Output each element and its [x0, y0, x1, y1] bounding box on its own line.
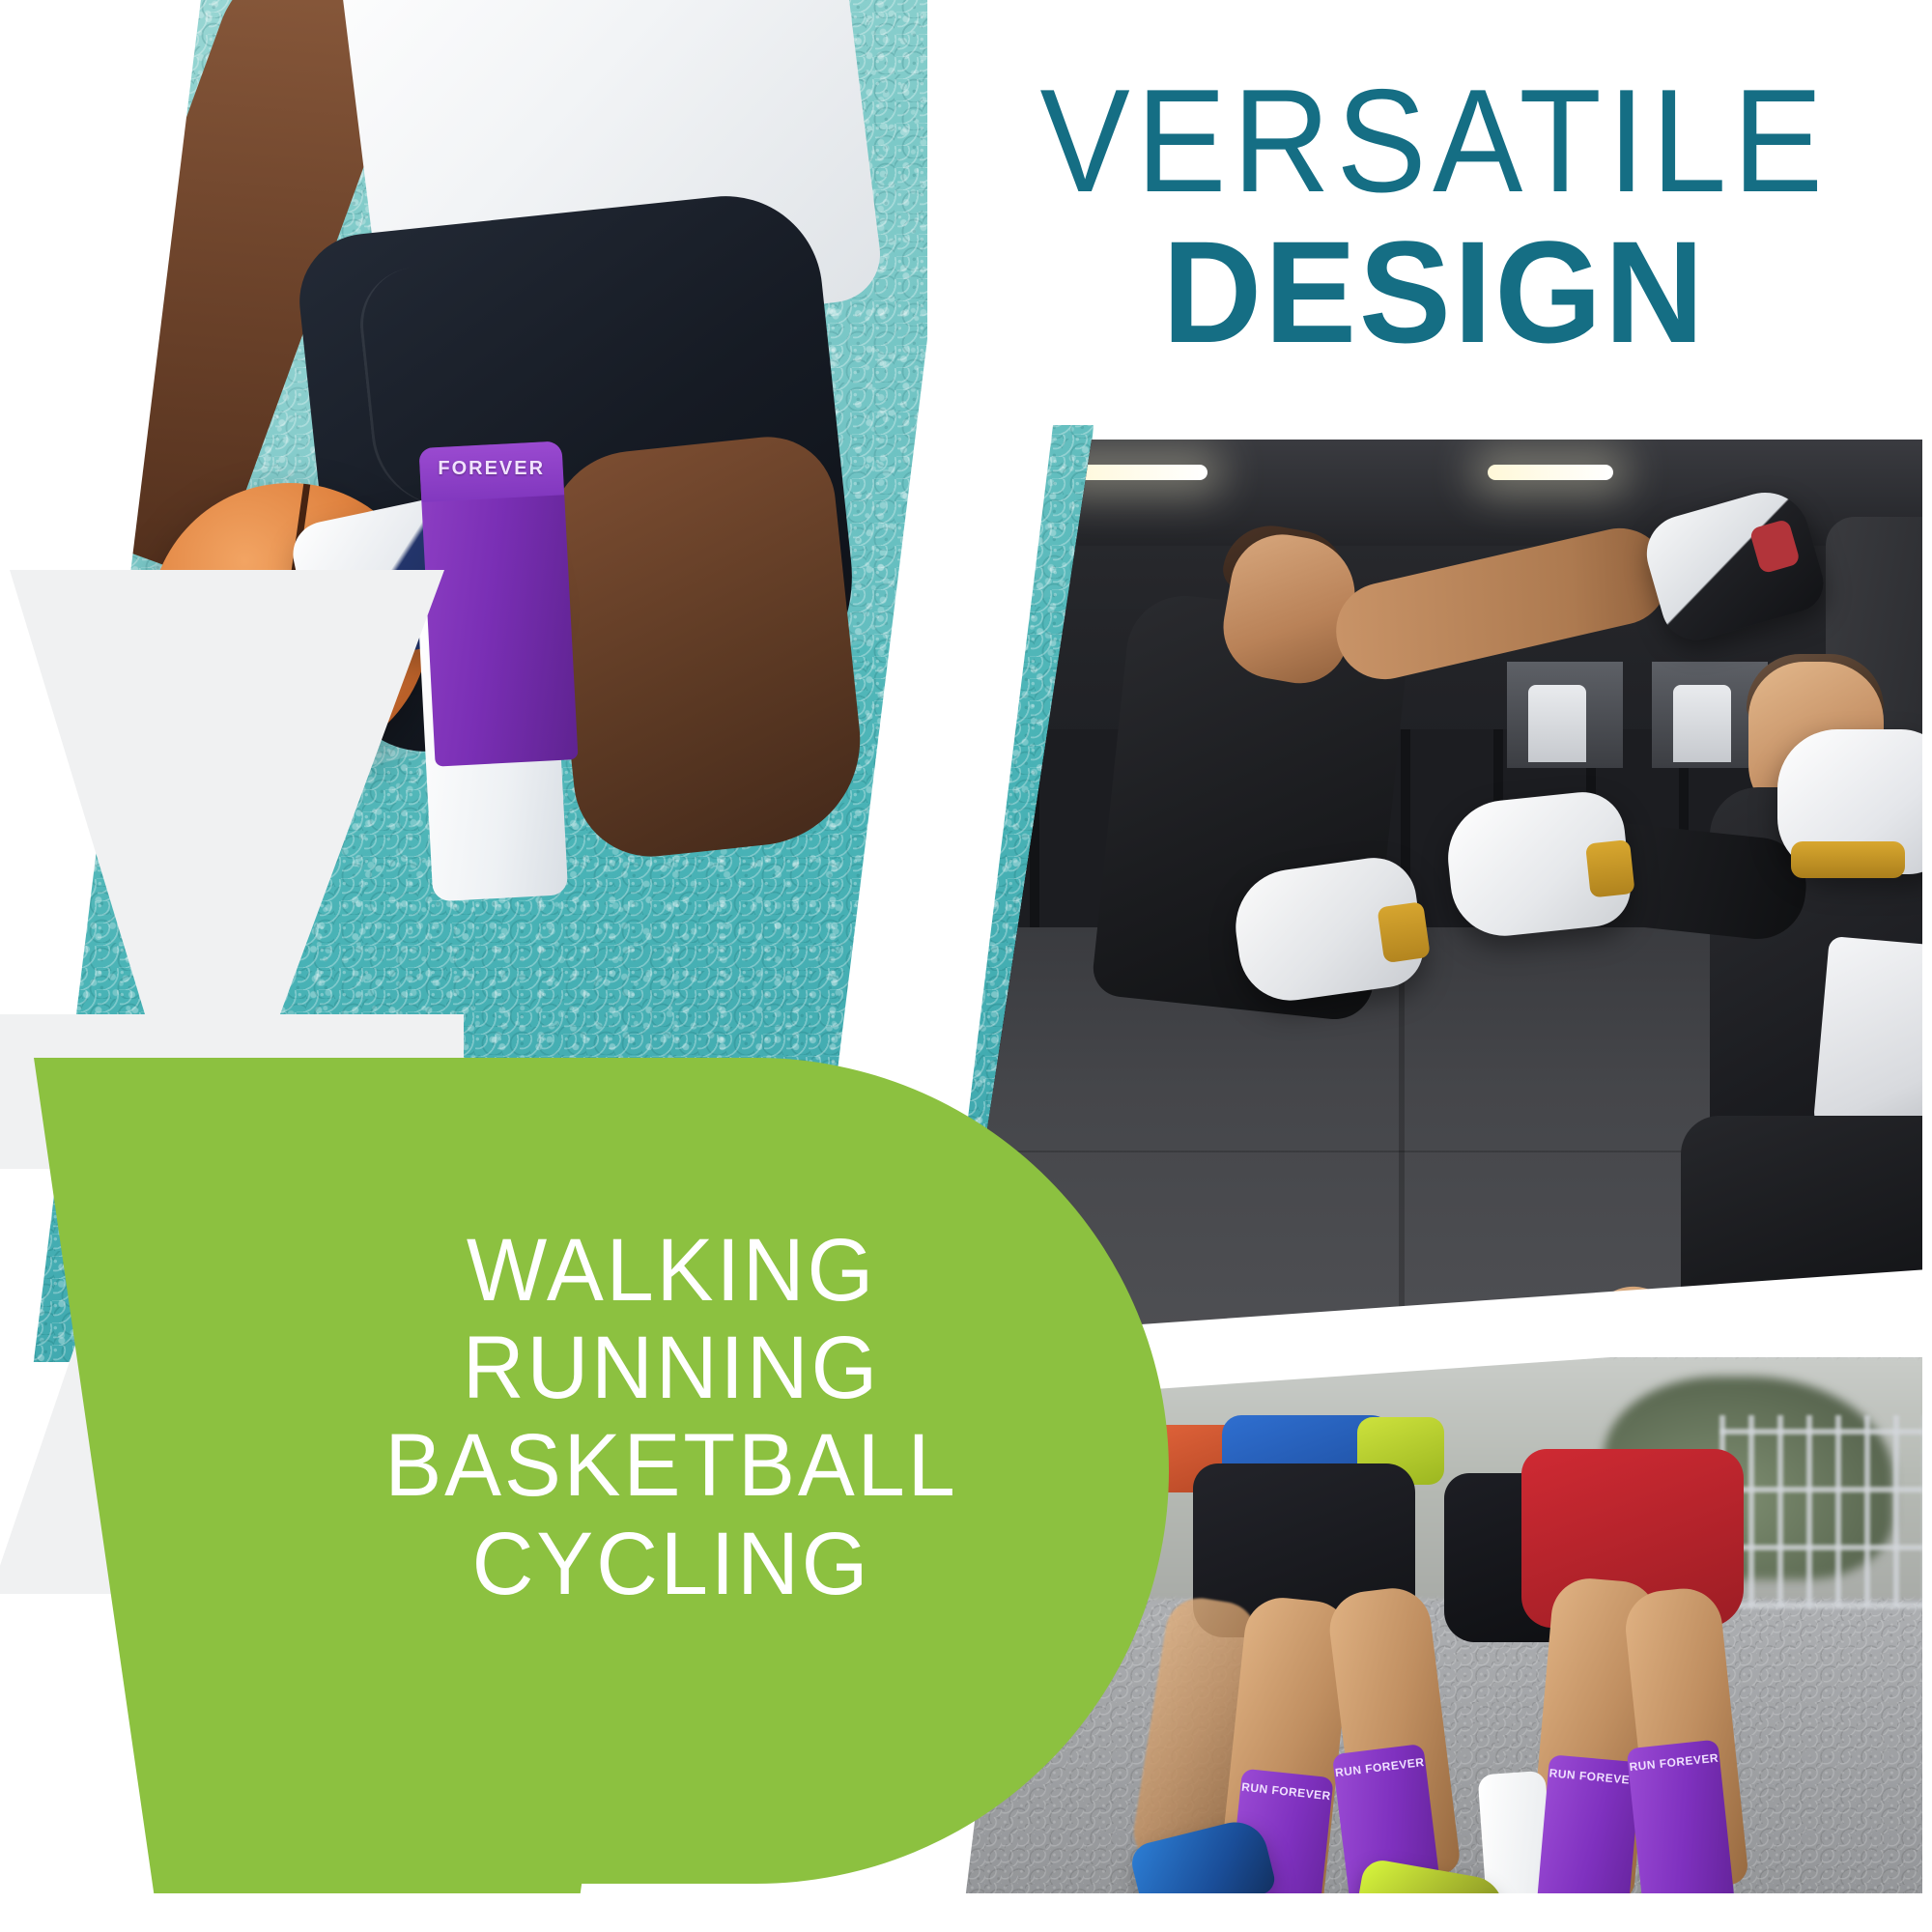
- boxer-glove-left: [1442, 788, 1634, 942]
- activity-item-running: RUNNING: [333, 1320, 1010, 1417]
- sleeve-brand-label: FOREVER: [420, 458, 563, 480]
- sleeve-brand-label: RUN FOREVER: [1548, 1766, 1640, 1787]
- product-feature-poster: FOREVER RUN: [0, 0, 1932, 1932]
- player-thigh: [540, 430, 870, 864]
- photo-boxing-panel: RUN FOREVER: [947, 440, 1932, 1333]
- activity-item-basketball: BASKETBALL: [333, 1417, 1010, 1515]
- headline-line-1: VERSATILE: [1012, 68, 1857, 214]
- activities-list: WALKING RUNNING BASKETBALL CYCLING: [319, 1222, 1024, 1613]
- gym-window: [1507, 662, 1623, 768]
- boxer-glove-right: [1777, 729, 1932, 874]
- rash-guard-graphic: [1813, 936, 1932, 1141]
- right-edge-trim: [1922, 0, 1932, 1932]
- headline-line-2: DESIGN: [999, 218, 1871, 366]
- bottom-edge-trim: [0, 1893, 1932, 1932]
- ceiling-light-icon: [1488, 465, 1613, 480]
- product-calf-sleeve-basketball: FOREVER: [418, 440, 578, 766]
- sleeve-brand-label: RUN FOREVER: [1628, 1750, 1720, 1774]
- activity-item-cycling: CYCLING: [333, 1516, 1010, 1613]
- sleeve-brand-label: RUN FOREVER: [1333, 1755, 1426, 1779]
- activity-item-walking: WALKING: [333, 1222, 1010, 1320]
- sleeve-brand-label: RUN FOREVER: [1240, 1780, 1333, 1804]
- page-title: VERSATILE DESIGN: [976, 68, 1893, 366]
- race-barrier-fence: [1719, 1415, 1932, 1608]
